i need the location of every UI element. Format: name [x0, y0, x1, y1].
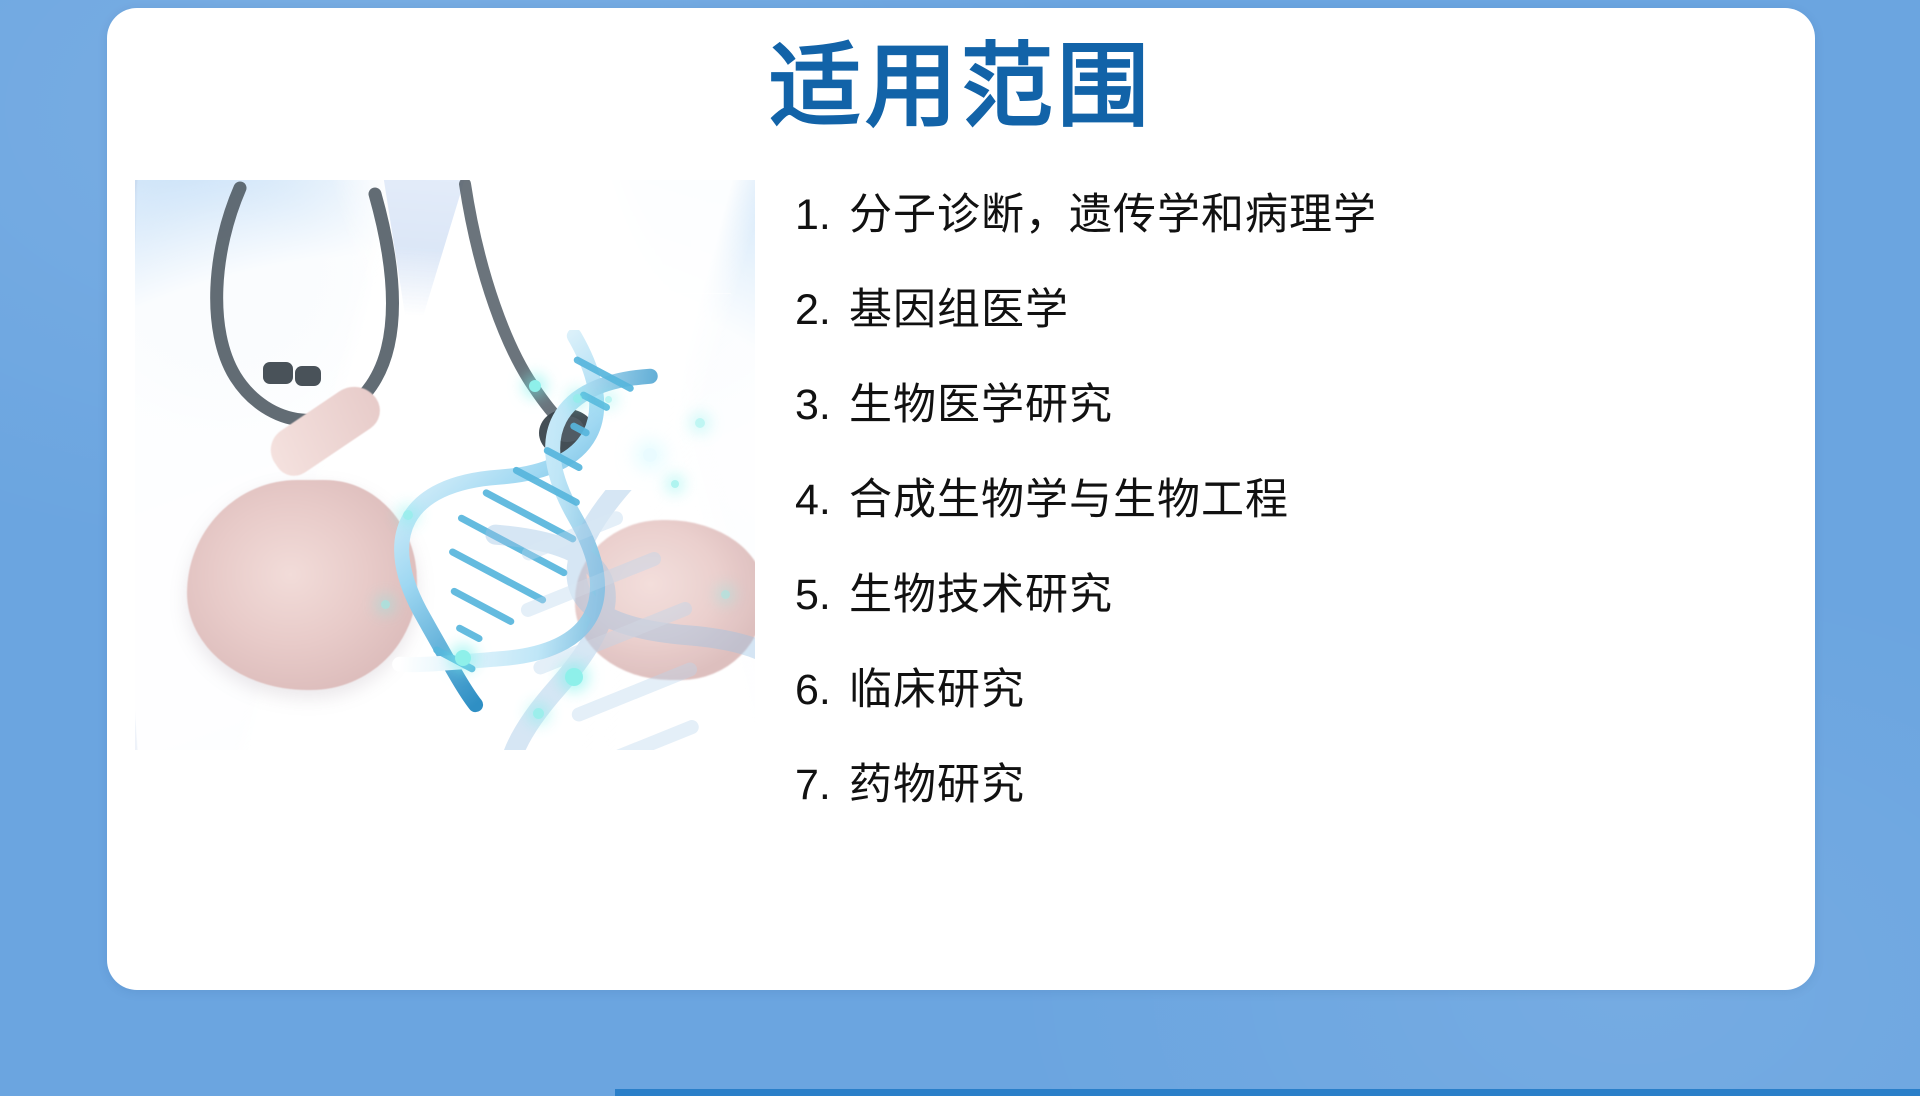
list-item-number: 6. [795, 669, 849, 712]
list-item-label: 基因组医学 [849, 289, 1069, 332]
list-item-number: 2. [795, 289, 849, 332]
bar-chart-overlay-icon: A B C D E [601, 204, 731, 314]
list-item-label: 药物研究 [849, 764, 1025, 807]
list-item-number: 7. [795, 764, 849, 807]
glow-particle [533, 708, 544, 719]
list-item-label: 临床研究 [849, 669, 1025, 712]
list-item: 7. 药物研究 [795, 764, 1755, 807]
list-item: 2. 基因组医学 [795, 289, 1755, 332]
chartlet-labels: A B C D E [601, 302, 687, 312]
list-item-number: 4. [795, 479, 849, 522]
glow-particle [565, 668, 583, 686]
bottom-accent-strip [615, 1089, 1920, 1096]
glow-particle [671, 480, 679, 488]
list-item: 4. 合成生物学与生物工程 [795, 479, 1755, 522]
list-item: 3. 生物医学研究 [795, 384, 1755, 427]
hero-photo: A B C D E [135, 180, 755, 750]
glow-particle [695, 418, 705, 428]
glow-particle [455, 650, 471, 666]
list-item-label: 生物技术研究 [849, 574, 1113, 617]
list-item: 1. 分子诊断，遗传学和病理学 [795, 194, 1755, 237]
dna-helix-background-icon [485, 490, 755, 750]
list-item-number: 1. [795, 194, 849, 237]
list-item-label: 合成生物学与生物工程 [849, 479, 1289, 522]
glow-particle [403, 510, 413, 520]
list-item: 6. 临床研究 [795, 669, 1755, 712]
glow-particle [573, 394, 582, 403]
list-item-label: 分子诊断，遗传学和病理学 [849, 194, 1377, 237]
scope-list: 1. 分子诊断，遗传学和病理学 2. 基因组医学 3. 生物医学研究 4. 合成… [795, 194, 1755, 807]
list-item: 5. 生物技术研究 [795, 574, 1755, 617]
photo-inner: A B C D E [135, 180, 755, 750]
glow-particle [605, 396, 612, 403]
list-item-label: 生物医学研究 [849, 384, 1113, 427]
glow-particle [643, 448, 657, 462]
glow-particle [721, 590, 730, 599]
glow-particle [381, 600, 390, 609]
list-item-number: 3. [795, 384, 849, 427]
glow-particle [529, 380, 541, 392]
content-card: 适用范围 [107, 8, 1815, 990]
slide-root: 适用范围 [0, 0, 1920, 1096]
list-item-number: 5. [795, 574, 849, 617]
page-title: 适用范围 [107, 38, 1815, 137]
